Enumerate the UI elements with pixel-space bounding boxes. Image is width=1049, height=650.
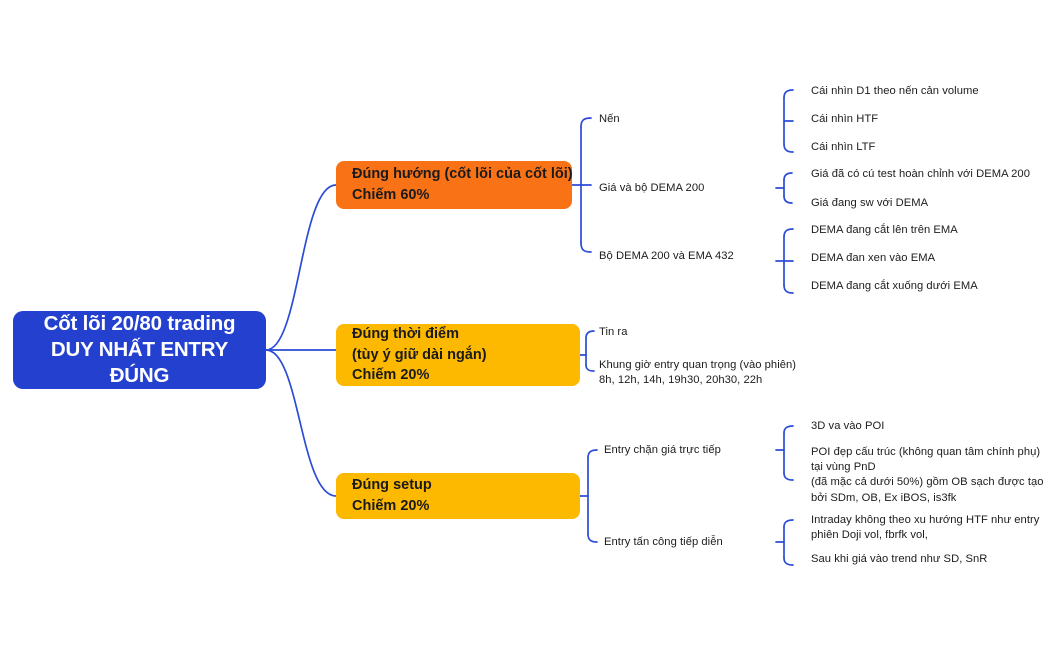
leaf-sau-khi-gia-vao-trend[interactable]: Sau khi giá vào trend như SD, SnR [811,552,987,567]
branch-2-line-1: Đúng setup [352,475,564,496]
root-line-1: Cốt lõi 20/80 trading [44,311,236,337]
edge-root-branch-2 [266,350,336,496]
branch-0-line-1: Đúng hướng (cốt lõi của cốt lõi) [352,164,556,185]
edge-entry2-bottom [784,558,793,565]
leaf-cai-nhin-htf[interactable]: Cái nhìn HTF [811,112,878,127]
leaf-gia-test-hoan-chinh[interactable]: Giá đã có cú test hoàn chỉnh với DEMA 20… [811,167,1030,182]
edge-nen-bottom [784,144,793,152]
edge-entry1-bottom [784,473,793,480]
leaf-khung-gio-entry[interactable]: Khung giờ entry quan trọng (vào phiên) 8… [599,358,796,388]
leaf-gia-va-bo-dema-200[interactable]: Giá và bộ DEMA 200 [599,181,704,196]
leaf-3d-va-vao-poi[interactable]: 3D va vào POI [811,419,884,434]
edge-branch0-corner-top [581,118,591,127]
leaf-intraday-khong-theo-xu-huong[interactable]: Intraday không theo xu hướng HTF như ent… [811,513,1039,543]
branch-1-line-3: Chiếm 20% [352,365,564,386]
edge-root-branch-0 [266,185,336,350]
branch-1-line-2: (tùy ý giữ dài ngắn) [352,345,564,366]
branch-1-line-1: Đúng thời điểm [352,324,564,345]
root-line-3: ĐÚNG [44,363,236,389]
leaf-dema-dan-xen-ema[interactable]: DEMA đan xen vào EMA [811,251,935,266]
leaf-tin-ra[interactable]: Tin ra [599,325,627,340]
leaf-entry-tan-cong-tiep-dien[interactable]: Entry tấn công tiếp diễn [604,535,723,550]
edge-branch2-bottom [588,534,597,542]
leaf-dema-cat-xuong-duoi-ema[interactable]: DEMA đang cắt xuống dưới EMA [811,279,978,294]
root-line-2: DUY NHẤT ENTRY [44,337,236,363]
edge-branch2-top [588,450,597,458]
branch-node-dung-setup[interactable]: Đúng setup Chiếm 20% [336,473,580,519]
edge-entry1-top [784,426,793,433]
edge-branch1-bottom [586,365,594,371]
leaf-poi-dep-cau-truc[interactable]: POI đẹp cấu trúc (không quan tâm chính p… [811,445,1044,506]
leaf-cai-nhin-d1[interactable]: Cái nhìn D1 theo nến cản volume [811,84,979,99]
leaf-entry-chan-gia-truc-tiep[interactable]: Entry chặn giá trực tiếp [604,443,721,458]
edge-nen-top [784,90,793,98]
branch-2-line-2: Chiếm 20% [352,496,564,517]
leaf-bo-dema-200-va-ema-432[interactable]: Bộ DEMA 200 và EMA 432 [599,249,734,264]
edge-ema-top [784,229,793,237]
leaf-gia-dang-sw[interactable]: Giá đang sw với DEMA [811,196,928,211]
edge-dema-bottom [784,196,792,203]
leaf-nen[interactable]: Nến [599,112,620,127]
edge-branch0-corner-bottom [581,243,591,252]
branch-node-dung-thoi-diem[interactable]: Đúng thời điểm (tùy ý giữ dài ngắn) Chiế… [336,324,580,386]
edge-entry2-top [784,520,793,527]
root-node[interactable]: Cốt lõi 20/80 trading DUY NHẤT ENTRY ĐÚN… [13,311,266,389]
branch-0-line-2: Chiếm 60% [352,185,556,206]
edge-branch1-top [586,331,594,338]
leaf-dema-cat-len-tren-ema[interactable]: DEMA đang cắt lên trên EMA [811,223,958,238]
edge-dema-top [784,173,792,180]
leaf-cai-nhin-ltf[interactable]: Cái nhìn LTF [811,140,875,155]
branch-node-dung-huong[interactable]: Đúng hướng (cốt lõi của cốt lõi) Chiếm 6… [336,161,572,209]
mindmap-canvas: Cốt lõi 20/80 trading DUY NHẤT ENTRY ĐÚN… [0,0,1049,650]
edge-ema-bottom [784,285,793,293]
